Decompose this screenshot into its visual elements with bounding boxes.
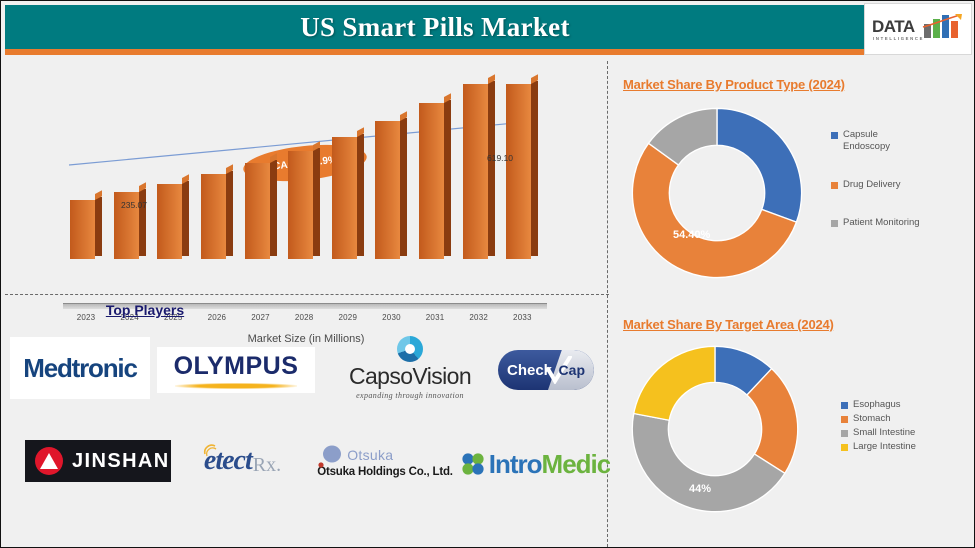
legend-label: Drug Delivery <box>843 179 901 191</box>
etect-dots-icon <box>202 443 218 459</box>
legend-label: Large Intestine <box>853 441 916 453</box>
donut-slice-large-intestine <box>634 346 715 420</box>
bar-value-label-2024: 235.07 <box>121 200 147 210</box>
bar-2027 <box>245 163 277 259</box>
player-logo-jinshan: JINSHAN <box>23 437 173 485</box>
top-players-section: Top Players Medtronic OLYMPUS CapsoVisio… <box>5 297 607 545</box>
olympus-swoosh-icon <box>175 383 297 389</box>
donut2-legend: EsophagusStomachSmall IntestineLarge Int… <box>841 399 916 455</box>
bar-2025 <box>157 184 189 259</box>
donut2-value-label: 44% <box>689 483 711 495</box>
header-accent-bar <box>5 49 972 55</box>
bar-2026 <box>201 174 233 259</box>
header: US Smart Pills Market DATA INTELLIGENCE <box>1 1 975 61</box>
target-area-donut-chart: Market Share By Target Area (2024) 44% E… <box>613 301 972 545</box>
intromedic-mark-icon <box>460 451 486 477</box>
donut1-legend-item: Capsule Endoscopy <box>831 129 921 153</box>
donut1-title: Market Share By Product Type (2024) <box>623 77 845 92</box>
bar-2033 <box>506 84 538 259</box>
otsuka-mark-icon <box>317 445 343 469</box>
donut2-graphic <box>627 341 803 517</box>
legend-swatch-icon <box>831 220 838 227</box>
player-logo-etectrx: etect Rx. <box>185 439 300 483</box>
donut1-legend-item: Drug Delivery <box>831 179 921 191</box>
donut2-legend-item: Large Intestine <box>841 441 916 453</box>
legend-label: Capsule Endoscopy <box>843 129 921 153</box>
infographic-page: US Smart Pills Market DATA INTELLIGENCE <box>0 0 975 548</box>
legend-label: Esophagus <box>853 399 901 411</box>
page-title: US Smart Pills Market <box>5 5 865 49</box>
bar-2031 <box>419 103 451 259</box>
player-logo-olympus: OLYMPUS <box>157 347 315 393</box>
legend-label: Small Intestine <box>853 427 915 439</box>
player-logo-otsuka: Otsuka Otsuka Holdings Co., Ltd. <box>310 437 460 487</box>
bar-2029 <box>332 137 364 259</box>
donut2-legend-item: Small Intestine <box>841 427 916 439</box>
bar-value-label-2033: 619.10 <box>487 153 513 163</box>
market-size-bar-chart: CAGR: 12.9% 235.07 619.10 Market Size (i… <box>5 59 607 294</box>
bar-plot-area <box>65 69 545 259</box>
donut-slice-capsule-endoscopy <box>717 108 802 222</box>
donut2-legend-item: Stomach <box>841 413 916 425</box>
player-logo-capsovision: CapsoVision expanding through innovation <box>335 335 485 401</box>
brand-logo: DATA INTELLIGENCE <box>864 3 972 55</box>
legend-swatch-icon <box>831 182 838 189</box>
legend-swatch-icon <box>841 444 848 451</box>
donut1-graphic <box>627 103 807 283</box>
product-type-donut-chart: Market Share By Product Type (2024) 54.4… <box>613 61 972 301</box>
donut1-legend-item: Patient Monitoring <box>831 217 921 229</box>
growth-arrow-icon <box>922 13 964 29</box>
player-logo-intromedic: Intro Medic <box>460 443 610 485</box>
player-logo-checkcap: Check Cap <box>493 347 599 393</box>
legend-label: Stomach <box>853 413 891 425</box>
legend-swatch-icon <box>831 132 838 139</box>
legend-label: Patient Monitoring <box>843 217 920 229</box>
legend-swatch-icon <box>841 402 848 409</box>
horizontal-divider <box>5 294 609 295</box>
player-logo-medtronic: Medtronic <box>10 337 150 399</box>
donut2-title: Market Share By Target Area (2024) <box>623 317 834 332</box>
bar-2032 <box>463 84 495 259</box>
donut1-legend: Capsule EndoscopyDrug DeliveryPatient Mo… <box>831 129 921 255</box>
logo-bars-icon <box>924 14 964 38</box>
top-players-heading: Top Players <box>5 302 285 318</box>
logo-tagline: INTELLIGENCE <box>873 36 924 41</box>
bar-2028 <box>288 151 320 259</box>
capsovision-mark-icon <box>397 336 423 362</box>
jinshan-mark-icon <box>35 447 63 475</box>
donut1-value-label: 54.40% <box>673 229 710 241</box>
legend-swatch-icon <box>841 430 848 437</box>
legend-swatch-icon <box>841 416 848 423</box>
bar-2030 <box>375 121 407 259</box>
donut2-legend-item: Esophagus <box>841 399 916 411</box>
logo-wordmark: DATA <box>872 17 915 37</box>
bar-2023 <box>70 200 102 259</box>
